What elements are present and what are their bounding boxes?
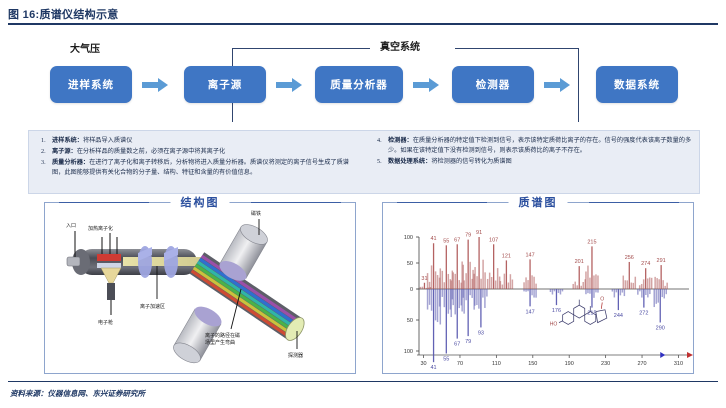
- peak-label: 272: [639, 311, 648, 317]
- y-tick-label: 50: [407, 318, 413, 324]
- list-item-term: 进样系统：: [52, 137, 83, 144]
- list-item-term: 离子源：: [52, 148, 77, 155]
- y-tick-label: 100: [404, 235, 413, 241]
- y-tick-label: 100: [404, 349, 413, 355]
- right-arrow-icon: [276, 78, 302, 92]
- list-item: 1. 进样系统：将样品导入质谱仪: [41, 136, 361, 146]
- list-item-text: 离子源：在分析样品的质量数之前，必须在离子源中将其离子化: [52, 147, 361, 157]
- list-item: 4. 检测器：在质量分析器的特定值下检测到信号，表示该特定质荷比离子的存在。信号…: [377, 136, 695, 156]
- label-inlet: 入口: [66, 223, 76, 229]
- list-item-term: 质量分析器：: [52, 159, 89, 166]
- list-item-body: 在分析样品的质量数之前，必须在离子源中将其离子化: [77, 148, 226, 155]
- list-item-number: 1.: [41, 136, 52, 146]
- label-ion-acceleration: 离子加速区: [140, 303, 165, 310]
- figure-header: 图 16:质谱仪结构示意: [8, 6, 718, 22]
- structure-diagram-image: 入口 加热离子化 电子枪: [45, 203, 355, 373]
- list-item-number: 4.: [377, 136, 388, 156]
- peak-label: 91: [476, 230, 482, 236]
- peak-label: 291: [657, 258, 666, 264]
- x-tick-label: 70: [457, 361, 463, 367]
- peak-label: 121: [502, 253, 511, 259]
- flow-node-sample-inlet[interactable]: 进样系统: [50, 66, 132, 103]
- atmosphere-label: 大气压: [70, 40, 100, 55]
- label-ion-path-2: 场里产生弯曲: [205, 339, 235, 346]
- vacuum-bracket-left: [232, 48, 370, 49]
- peak-label: 79: [465, 233, 471, 239]
- list-item-number: 3.: [41, 158, 52, 178]
- right-arrow-icon: [413, 78, 439, 92]
- list-item-body: 在质量分析器的特定值下检测到信号，表示该特定质荷比离子的存在。信号的强度代表该离…: [388, 137, 691, 154]
- list-item-term: 数据处理系统：: [388, 158, 431, 165]
- peak-label: 55: [443, 356, 449, 362]
- list-item-term: 检测器：: [388, 137, 413, 144]
- y-tick-label: 50: [407, 261, 413, 267]
- label-ion-path-1: 离子的路径在磁: [205, 332, 240, 339]
- peak-label: 67: [454, 237, 460, 243]
- source-note: 资料来源：仪器信息网、东兴证券研究所: [10, 388, 145, 399]
- description-column-right: 4. 检测器：在质量分析器的特定值下检测到信号，表示该特定质荷比离子的存在。信号…: [377, 136, 695, 168]
- peak-label: 31: [421, 276, 427, 282]
- header-divider: [8, 23, 718, 25]
- atom-label-ho: HO: [550, 321, 558, 327]
- x-tick-label: 190: [565, 361, 574, 367]
- peak-label: 215: [587, 311, 596, 317]
- peak-label: 290: [656, 325, 665, 331]
- spectrum-series-up: 314155677991107121147201215256274291: [420, 230, 667, 289]
- peak-label: 274: [641, 261, 650, 267]
- peak-label: 67: [454, 342, 460, 348]
- right-arrow-icon: [544, 78, 570, 92]
- peak-label: 201: [575, 259, 584, 265]
- flow-node-ion-source[interactable]: 离子源: [184, 66, 266, 103]
- peak-label: 244: [614, 313, 623, 319]
- spectrum-series-down: 4155677993147176215244272290: [428, 289, 667, 371]
- peak-label: 41: [431, 236, 437, 242]
- list-item-text: 数据处理系统：将检测器的信号转化为质谱图: [388, 157, 695, 167]
- right-arrow-icon: [142, 78, 168, 92]
- label-heated-ionization: 加热离子化: [88, 225, 113, 232]
- label-detector: 探测器: [288, 352, 303, 359]
- x-tick-label: 150: [528, 361, 537, 367]
- y-tick-label: 0: [410, 287, 413, 293]
- figure-page: 图 16:质谱仪结构示意 大气压 真空系统 进样系统 离子源 质量分析器 检测器…: [0, 0, 726, 408]
- list-item-body: 将样品导入质谱仪: [83, 137, 133, 144]
- list-item: 5. 数据处理系统：将检测器的信号转化为质谱图: [377, 157, 695, 167]
- description-panel: 1. 进样系统：将样品导入质谱仪 2. 离子源：在分析样品的质量数之前，必须在离…: [28, 130, 700, 194]
- list-item-number: 2.: [41, 147, 52, 157]
- flow-node-mass-analyzer[interactable]: 质量分析器: [315, 66, 403, 103]
- x-tick-label: 110: [492, 361, 501, 367]
- peak-label: 147: [525, 252, 534, 258]
- mass-spectrum-chart: 0501005010030701101501902302703103141556…: [383, 203, 693, 373]
- peak-label: 79: [465, 339, 471, 345]
- flow-diagram: 大气压 真空系统 进样系统 离子源 质量分析器 检测器 数据系统: [0, 30, 726, 122]
- peak-label: 256: [625, 255, 634, 261]
- page-title: 图 16:质谱仪结构示意: [8, 6, 718, 22]
- label-magnet: 磁铁: [251, 210, 261, 217]
- x-tick-label: 270: [637, 361, 646, 367]
- peak-label: 93: [478, 330, 484, 336]
- description-column-left: 1. 进样系统：将样品导入质谱仪 2. 离子源：在分析样品的质量数之前，必须在离…: [41, 136, 361, 179]
- list-item: 2. 离子源：在分析样品的质量数之前，必须在离子源中将其离子化: [41, 147, 361, 157]
- footer-divider: [8, 381, 718, 382]
- x-tick-label: 230: [601, 361, 610, 367]
- flow-node-data-system[interactable]: 数据系统: [596, 66, 678, 103]
- list-item-text: 进样系统：将样品导入质谱仪: [52, 136, 361, 146]
- peak-label: 107: [489, 237, 498, 243]
- list-item: 3. 质量分析器：在进行了离子化和离子转移后，分析物将进入质量分析器。质谱仪将测…: [41, 158, 361, 178]
- atom-label-o: O: [600, 297, 604, 303]
- list-item-body: 将检测器的信号转化为质谱图: [431, 158, 511, 165]
- mass-spectrum-panel: 质谱图 050100501003070110150190230270310314…: [382, 202, 694, 374]
- peak-label: 41: [431, 365, 437, 371]
- list-item-text: 检测器：在质量分析器的特定值下检测到信号，表示该特定质荷比离子的存在。信号的强度…: [388, 136, 695, 156]
- peak-label: 215: [587, 239, 596, 245]
- vacuum-label: 真空系统: [380, 38, 420, 53]
- label-electron-gun: 电子枪: [98, 319, 113, 326]
- list-item-number: 5.: [377, 157, 388, 167]
- peak-label: 55: [443, 238, 449, 244]
- structure-diagram-panel: 结构图: [44, 202, 356, 374]
- x-tick-label: 310: [674, 361, 683, 367]
- vacuum-bracket-drop-right: [578, 48, 579, 122]
- flow-node-detector[interactable]: 检测器: [452, 66, 534, 103]
- x-tick-label: 30: [420, 361, 426, 367]
- list-item-text: 质量分析器：在进行了离子化和离子转移后，分析物将进入质量分析器。质谱仪将测定的离…: [52, 158, 361, 178]
- list-item-body: 在进行了离子化和离子转移后，分析物将进入质量分析器。质谱仪将测定的离子信号生成了…: [52, 159, 349, 176]
- peak-label: 176: [552, 308, 561, 314]
- peak-label: 147: [525, 309, 534, 315]
- vacuum-bracket-right: [455, 48, 578, 49]
